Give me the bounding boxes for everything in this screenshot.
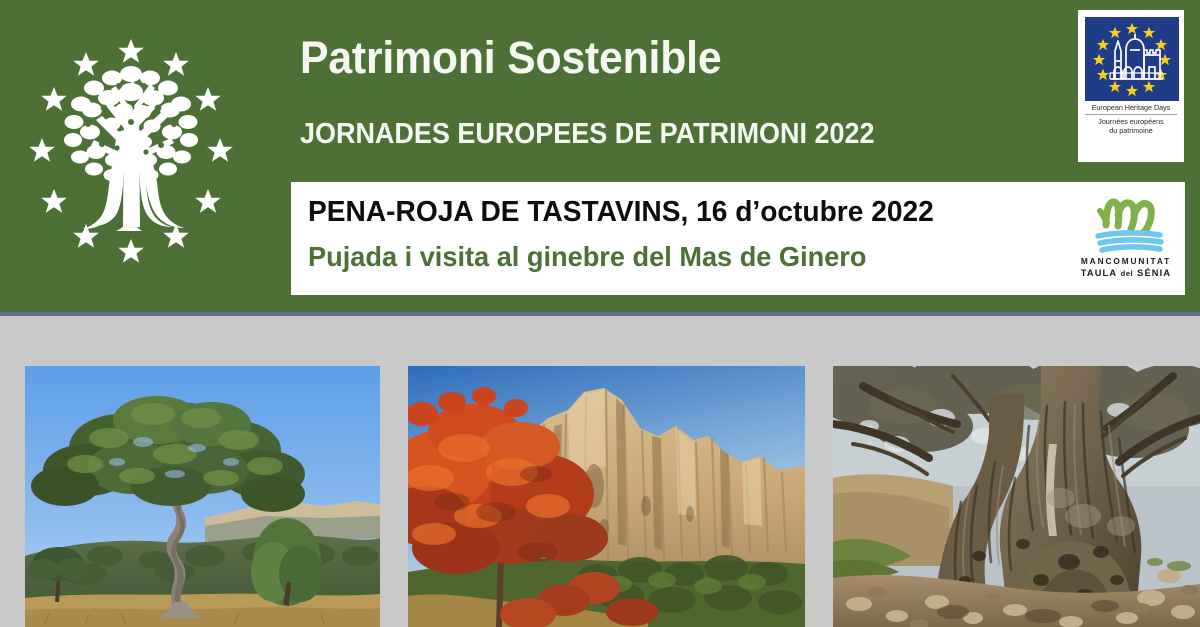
european-heritage-days-logo: European Heritage Days Journées européen… — [1078, 10, 1184, 162]
photo-sandstone-cliffs — [408, 366, 805, 627]
mancomunitat-name: MANCOMUNITAT — [1076, 256, 1176, 266]
mancomunitat-subname: TAULA del SÉNIA — [1076, 268, 1176, 278]
ehd-logo-text: European Heritage Days Journées européen… — [1085, 101, 1177, 135]
ehd-text-english: European Heritage Days — [1085, 101, 1177, 115]
ehd-text-french-line2: du patrimoine — [1085, 127, 1177, 135]
mancomunitat-mark-icon — [1076, 189, 1176, 255]
mancomunitat-subname-del: del — [1121, 269, 1134, 278]
european-heritage-days-tree-icon — [24, 12, 239, 297]
poster-root: Patrimoni Sostenible JORNADES EUROPEES D… — [0, 0, 1200, 627]
poster-title: Patrimoni Sostenible — [300, 32, 721, 84]
event-info-box: PENA-ROJA DE TASTAVINS, 16 d’octubre 202… — [291, 182, 1185, 295]
ehd-text-french: Journées européens du patrimoine — [1085, 115, 1177, 135]
photo-juniper-tree — [25, 366, 380, 627]
photo-ancient-trunk — [833, 366, 1200, 627]
mancomunitat-logo: MANCOMUNITAT TAULA del SÉNIA — [1076, 189, 1176, 287]
eu-flag-monument-icon — [1085, 17, 1179, 101]
event-activity: Pujada i visita al ginebre del Mas de Gi… — [308, 241, 866, 273]
banner-divider-rule — [0, 312, 1200, 316]
mancomunitat-subname-taula: TAULA — [1081, 268, 1117, 278]
poster-subtitle: JORNADES EUROPEES DE PATRIMONI 2022 — [300, 118, 875, 151]
event-location-date: PENA-ROJA DE TASTAVINS, 16 d’octubre 202… — [308, 196, 934, 229]
mancomunitat-subname-senia: SÉNIA — [1137, 268, 1171, 278]
